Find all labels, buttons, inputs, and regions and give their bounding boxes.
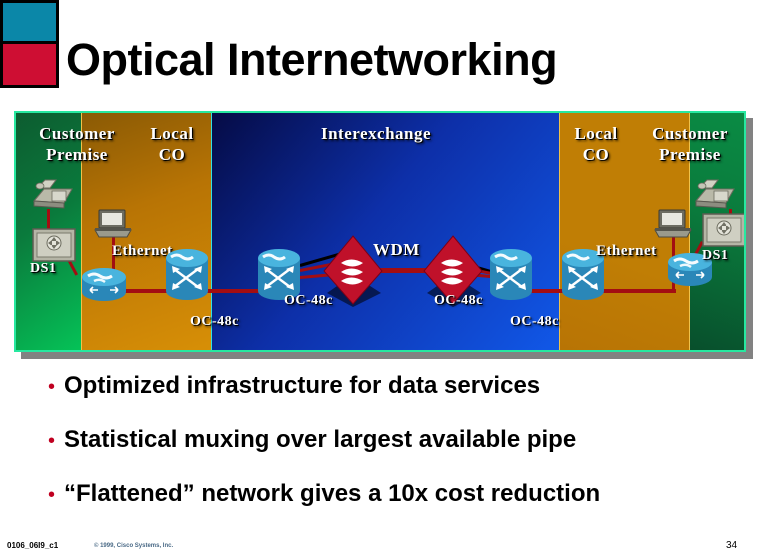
logo-bottom-block: [3, 44, 56, 85]
page-title: Optical Internetworking: [66, 34, 557, 86]
label-oc48c-c: OC-48c: [434, 293, 483, 309]
zone-label-local-co-right: Local CO: [556, 123, 636, 165]
network-diagram: Customer Premise Local CO Interexchange …: [14, 111, 746, 352]
ds1-csu-icon-left: [32, 228, 76, 262]
label-ds1-right: DS1: [702, 248, 728, 264]
bullet-marker-icon: •: [48, 431, 64, 451]
workstation-icon-left: [94, 209, 132, 239]
label-oc48c-d: OC-48c: [510, 314, 559, 330]
switch-icon-core-right: [488, 249, 534, 301]
list-item: • “Flattened” network gives a 10x cost r…: [48, 480, 748, 508]
zone-label-customer-premise-right: Customer Premise: [634, 123, 746, 165]
zone-label-line1: Customer: [22, 123, 132, 144]
logo-top-block: [3, 3, 56, 44]
zone-label-interexchange: Interexchange: [251, 123, 501, 144]
bullet-text: “Flattened” network gives a 10x cost red…: [64, 480, 600, 508]
zone-interexchange: [211, 113, 560, 350]
zone-label-line2: CO: [556, 144, 636, 165]
label-ethernet-right: Ethernet: [596, 243, 657, 260]
label-wdm: WDM: [373, 240, 420, 260]
list-item: • Optimized infrastructure for data serv…: [48, 372, 748, 400]
bullet-text: Optimized infrastructure for data servic…: [64, 372, 540, 400]
zone-label-line2: Premise: [22, 144, 132, 165]
ds1-csu-icon-right: [702, 213, 746, 247]
label-oc48c-b: OC-48c: [284, 293, 333, 309]
zone-label-line2: Premise: [634, 144, 746, 165]
footer-document-id: 0106_06I9_c1: [7, 541, 58, 550]
workstation-icon-right: [654, 209, 692, 239]
brand-logo: [0, 0, 59, 88]
telephone-icon-left: [30, 175, 76, 211]
list-item: • Statistical muxing over largest availa…: [48, 426, 748, 454]
bullet-marker-icon: •: [48, 377, 64, 397]
zone-label-customer-premise-left: Customer Premise: [22, 123, 132, 165]
bullet-marker-icon: •: [48, 485, 64, 505]
zone-label-line1: Local: [132, 123, 212, 144]
router-icon-left: [80, 268, 128, 302]
bullet-list: • Optimized infrastructure for data serv…: [48, 372, 748, 534]
zone-label-line2: CO: [132, 144, 212, 165]
zone-label-line1: Customer: [634, 123, 746, 144]
footer-page-number: 34: [726, 540, 737, 551]
label-ds1-left: DS1: [30, 261, 56, 277]
zone-label-local-co-left: Local CO: [132, 123, 212, 165]
label-oc48c-a: OC-48c: [190, 314, 239, 330]
bullet-text: Statistical muxing over largest availabl…: [64, 426, 576, 454]
wire-router-switch-right: [600, 289, 676, 293]
telephone-icon-right: [692, 175, 738, 211]
switch-icon-co-left: [164, 249, 210, 301]
footer-copyright: © 1999, Cisco Systems, Inc.: [94, 543, 173, 549]
zone-label-line1: Local: [556, 123, 636, 144]
zone-label-line1: Interexchange: [251, 123, 501, 144]
